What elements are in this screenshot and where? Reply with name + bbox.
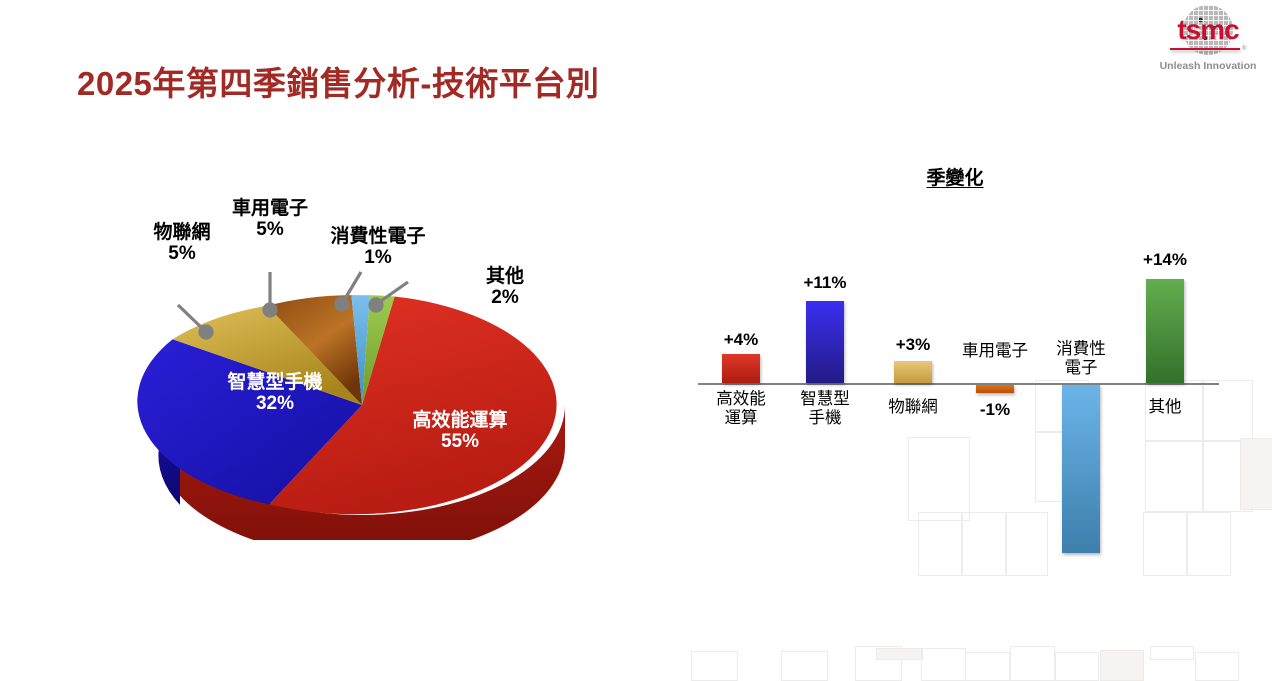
pie-slice-label-hpc: 高效能運算 55%	[370, 410, 550, 453]
cell-artifact	[1010, 646, 1055, 681]
cell-artifact	[855, 646, 902, 681]
bar-category-line: 物聯網	[864, 398, 962, 417]
bar-value-label: +11%	[782, 273, 868, 293]
bar-category-label: 其他	[1116, 398, 1214, 417]
bar-group-iot: +3% 物聯網	[870, 150, 956, 610]
cell-artifact	[1055, 652, 1099, 681]
tsmc-wordmark: tsmc	[1158, 16, 1258, 44]
bar-value-label: +4%	[698, 330, 784, 350]
pie-slice-label-smartphone: 智慧型手機 32%	[190, 372, 360, 415]
logo-tagline: Unleash Innovation	[1150, 60, 1266, 72]
cell-artifact	[691, 651, 738, 681]
bar-hpc[interactable]	[722, 354, 760, 383]
bar-category-label: 車用電子	[946, 342, 1044, 361]
bar-value-label: +14%	[1122, 250, 1208, 270]
pie-slice-name: 智慧型手機	[190, 372, 360, 393]
pie-slice-name: 消費性電子	[302, 226, 454, 247]
cell-artifact	[1195, 652, 1239, 681]
bar-category-label: 智慧型 手機	[776, 390, 874, 428]
pie-slice-label-consumer: 消費性電子 1%	[302, 226, 454, 269]
qoq-bar-chart: 季變化 +4% 高效能 運算 +11% 智慧型 手機 +3% 物聯網 車用電子 …	[690, 150, 1250, 610]
pie-slice-value: 55%	[370, 431, 550, 452]
bar-consumer[interactable]	[1062, 385, 1100, 553]
bar-category-label: 物聯網	[864, 398, 962, 417]
bar-category-label: 消費性 電子	[1032, 340, 1130, 378]
bar-iot[interactable]	[894, 361, 932, 383]
bar-group-consumer: 消費性 電子	[1038, 150, 1124, 610]
pie-slice-label-others: 其他 2%	[460, 266, 550, 309]
bar-smartphone[interactable]	[806, 301, 844, 383]
pie-slice-name: 高效能運算	[370, 410, 550, 431]
logo-underline	[1170, 48, 1240, 50]
bar-others[interactable]	[1146, 279, 1184, 383]
bar-value-label: -1%	[952, 400, 1038, 420]
bar-category-line: 智慧型	[776, 390, 874, 409]
pie-slice-value: 1%	[302, 247, 454, 268]
registered-mark: ®	[1242, 46, 1246, 52]
bar-category-line: 電子	[1032, 359, 1130, 378]
pie-slice-value: 2%	[460, 287, 550, 308]
pie-slice-name: 其他	[460, 266, 550, 287]
bar-category-line: 手機	[776, 409, 874, 428]
tsmc-logo: tsmc ® Unleash Innovation	[1150, 4, 1266, 78]
bar-group-hpc: +4% 高效能 運算	[698, 150, 784, 610]
cell-artifact	[876, 648, 923, 660]
cell-artifact	[921, 648, 966, 681]
pie-slice-name: 車用電子	[208, 198, 332, 219]
bar-category-line: 車用電子	[946, 342, 1044, 361]
pie-slice-value: 5%	[120, 243, 244, 264]
bar-category-line: 消費性	[1032, 340, 1130, 359]
bar-group-others: +14% 其他	[1122, 150, 1208, 610]
cell-artifact	[965, 652, 1010, 681]
bar-value-label: +3%	[870, 335, 956, 355]
bar-automotive[interactable]	[976, 385, 1014, 393]
cell-artifact	[781, 651, 828, 681]
bar-category-line: 其他	[1116, 398, 1214, 417]
pie-slice-value: 32%	[190, 393, 360, 414]
page-title: 2025年第四季銷售分析-技術平台別	[77, 57, 599, 105]
bar-group-smartphone: +11% 智慧型 手機	[782, 150, 868, 610]
cell-artifact	[1100, 650, 1144, 681]
pie-chart: 智慧型手機 32% 高效能運算 55% 物聯網 5% 車用電子 5% 消費性電子…	[130, 250, 610, 540]
bar-group-automotive: 車用電子 -1%	[952, 150, 1038, 610]
cell-artifact	[1150, 646, 1194, 660]
